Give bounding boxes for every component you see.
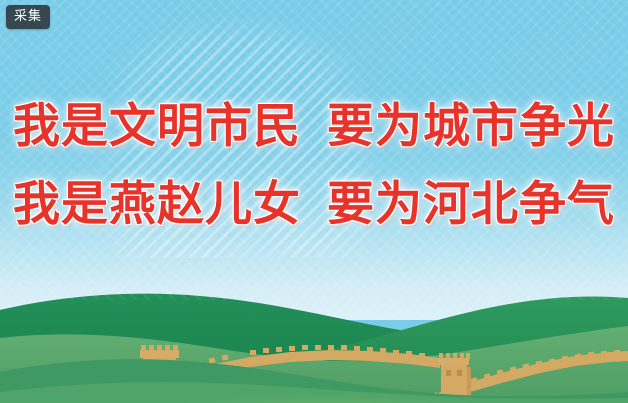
poster-canvas: 我是文明市民要为城市争光 我是燕赵儿女要为河北争气 采集 xyxy=(0,0,628,403)
slogan-line-1-left: 我是文明市民 xyxy=(13,99,301,154)
foreground-glow xyxy=(150,371,510,403)
slogan-line-2: 我是燕赵儿女要为河北争气 xyxy=(0,166,628,244)
slogan-line-2-left: 我是燕赵儿女 xyxy=(13,177,301,232)
slogan-line-2-right: 要为河北争气 xyxy=(327,177,615,232)
hill-layer-mid xyxy=(0,326,628,403)
capture-badge[interactable]: 采集 xyxy=(6,5,50,29)
great-wall-left xyxy=(128,345,440,403)
slogan-block: 我是文明市民要为城市争光 我是燕赵儿女要为河北争气 xyxy=(0,88,628,244)
hill-layer-front xyxy=(0,359,628,403)
great-wall-tower-right xyxy=(438,353,471,403)
slogan-line-1-right: 要为城市争光 xyxy=(327,99,615,154)
great-wall-tower-left xyxy=(140,345,180,403)
slogan-line-1: 我是文明市民要为城市争光 xyxy=(0,88,628,166)
great-wall-right xyxy=(426,350,628,403)
